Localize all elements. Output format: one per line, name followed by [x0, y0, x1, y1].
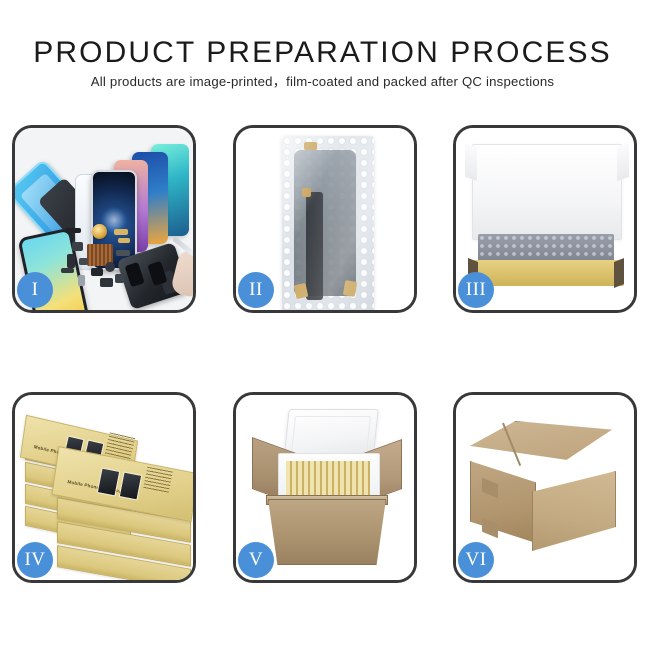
spare-part: [105, 262, 115, 272]
carton-left-face: [470, 461, 536, 543]
process-step-2: II: [233, 125, 417, 313]
step-badge-2: II: [238, 272, 274, 308]
box-spec-lines: [143, 467, 173, 494]
process-step-3: III: [453, 125, 637, 313]
step-badge-5: V: [238, 542, 274, 578]
plastic-glare: [282, 136, 374, 310]
bubble-wrap-bag: [282, 136, 374, 310]
process-step-grid: I II: [0, 0, 645, 645]
step-badge-6: VI: [458, 542, 494, 578]
spare-part: [61, 268, 74, 273]
spare-part: [91, 268, 103, 276]
process-step-1: I: [12, 125, 196, 313]
product-preparation-poster: PRODUCT PREPARATION PROCESS All products…: [0, 0, 645, 645]
spare-part: [114, 229, 128, 235]
step-badge-3: III: [458, 272, 494, 308]
step-badge-1: I: [17, 272, 53, 308]
spare-part: [67, 254, 75, 268]
spare-part: [78, 275, 85, 286]
carton-top-face: [470, 421, 612, 475]
spare-part: [79, 258, 88, 265]
spare-part: [115, 274, 124, 283]
spare-part: [72, 242, 83, 251]
gold-coil-part: [92, 224, 107, 239]
white-box-lid: [472, 144, 622, 240]
process-step-5: V: [233, 392, 417, 583]
spare-part: [65, 228, 81, 233]
spare-part: [100, 278, 113, 287]
spare-part: [118, 238, 130, 243]
spare-part: [116, 250, 130, 256]
process-step-6: VI: [453, 392, 637, 583]
carton-right-face: [532, 471, 616, 551]
carton-body: [268, 499, 386, 565]
step-badge-4: IV: [17, 542, 53, 578]
process-step-4: Mobile Phone Spare Parts Mobile Phone Sp…: [12, 392, 196, 583]
